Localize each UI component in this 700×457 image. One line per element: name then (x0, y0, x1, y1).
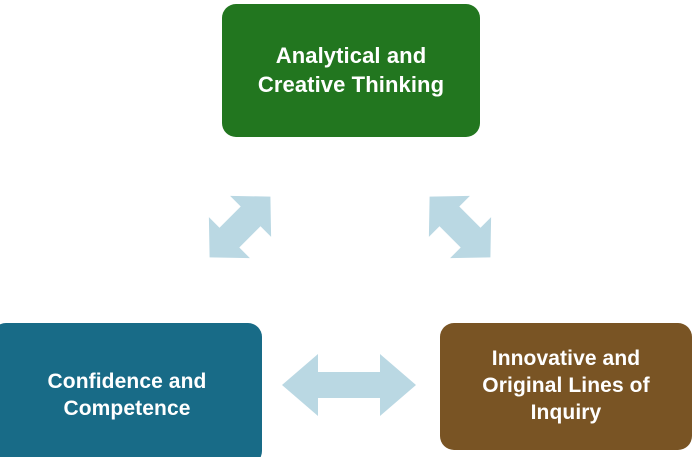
node-innovative-and-original-lines-of-inquiry[interactable]: Innovative and Original Lines of Inquiry (440, 323, 692, 450)
double-headed-arrow-diagonal-up-left-icon (405, 162, 515, 292)
node-label: Confidence and Competence (36, 365, 219, 423)
double-headed-arrow-horizontal-icon (278, 352, 420, 418)
node-analytical-and-creative-thinking[interactable]: Analytical and Creative Thinking (222, 4, 480, 137)
node-label: Innovative and Original Lines of Inquiry (470, 346, 661, 427)
double-headed-arrow-diagonal-up-right-icon (185, 162, 295, 292)
node-label: Analytical and Creative Thinking (246, 42, 456, 98)
diagram-canvas: Analytical and Creative Thinking Confide… (0, 0, 700, 457)
node-confidence-and-competence[interactable]: Confidence and Competence (0, 323, 262, 457)
